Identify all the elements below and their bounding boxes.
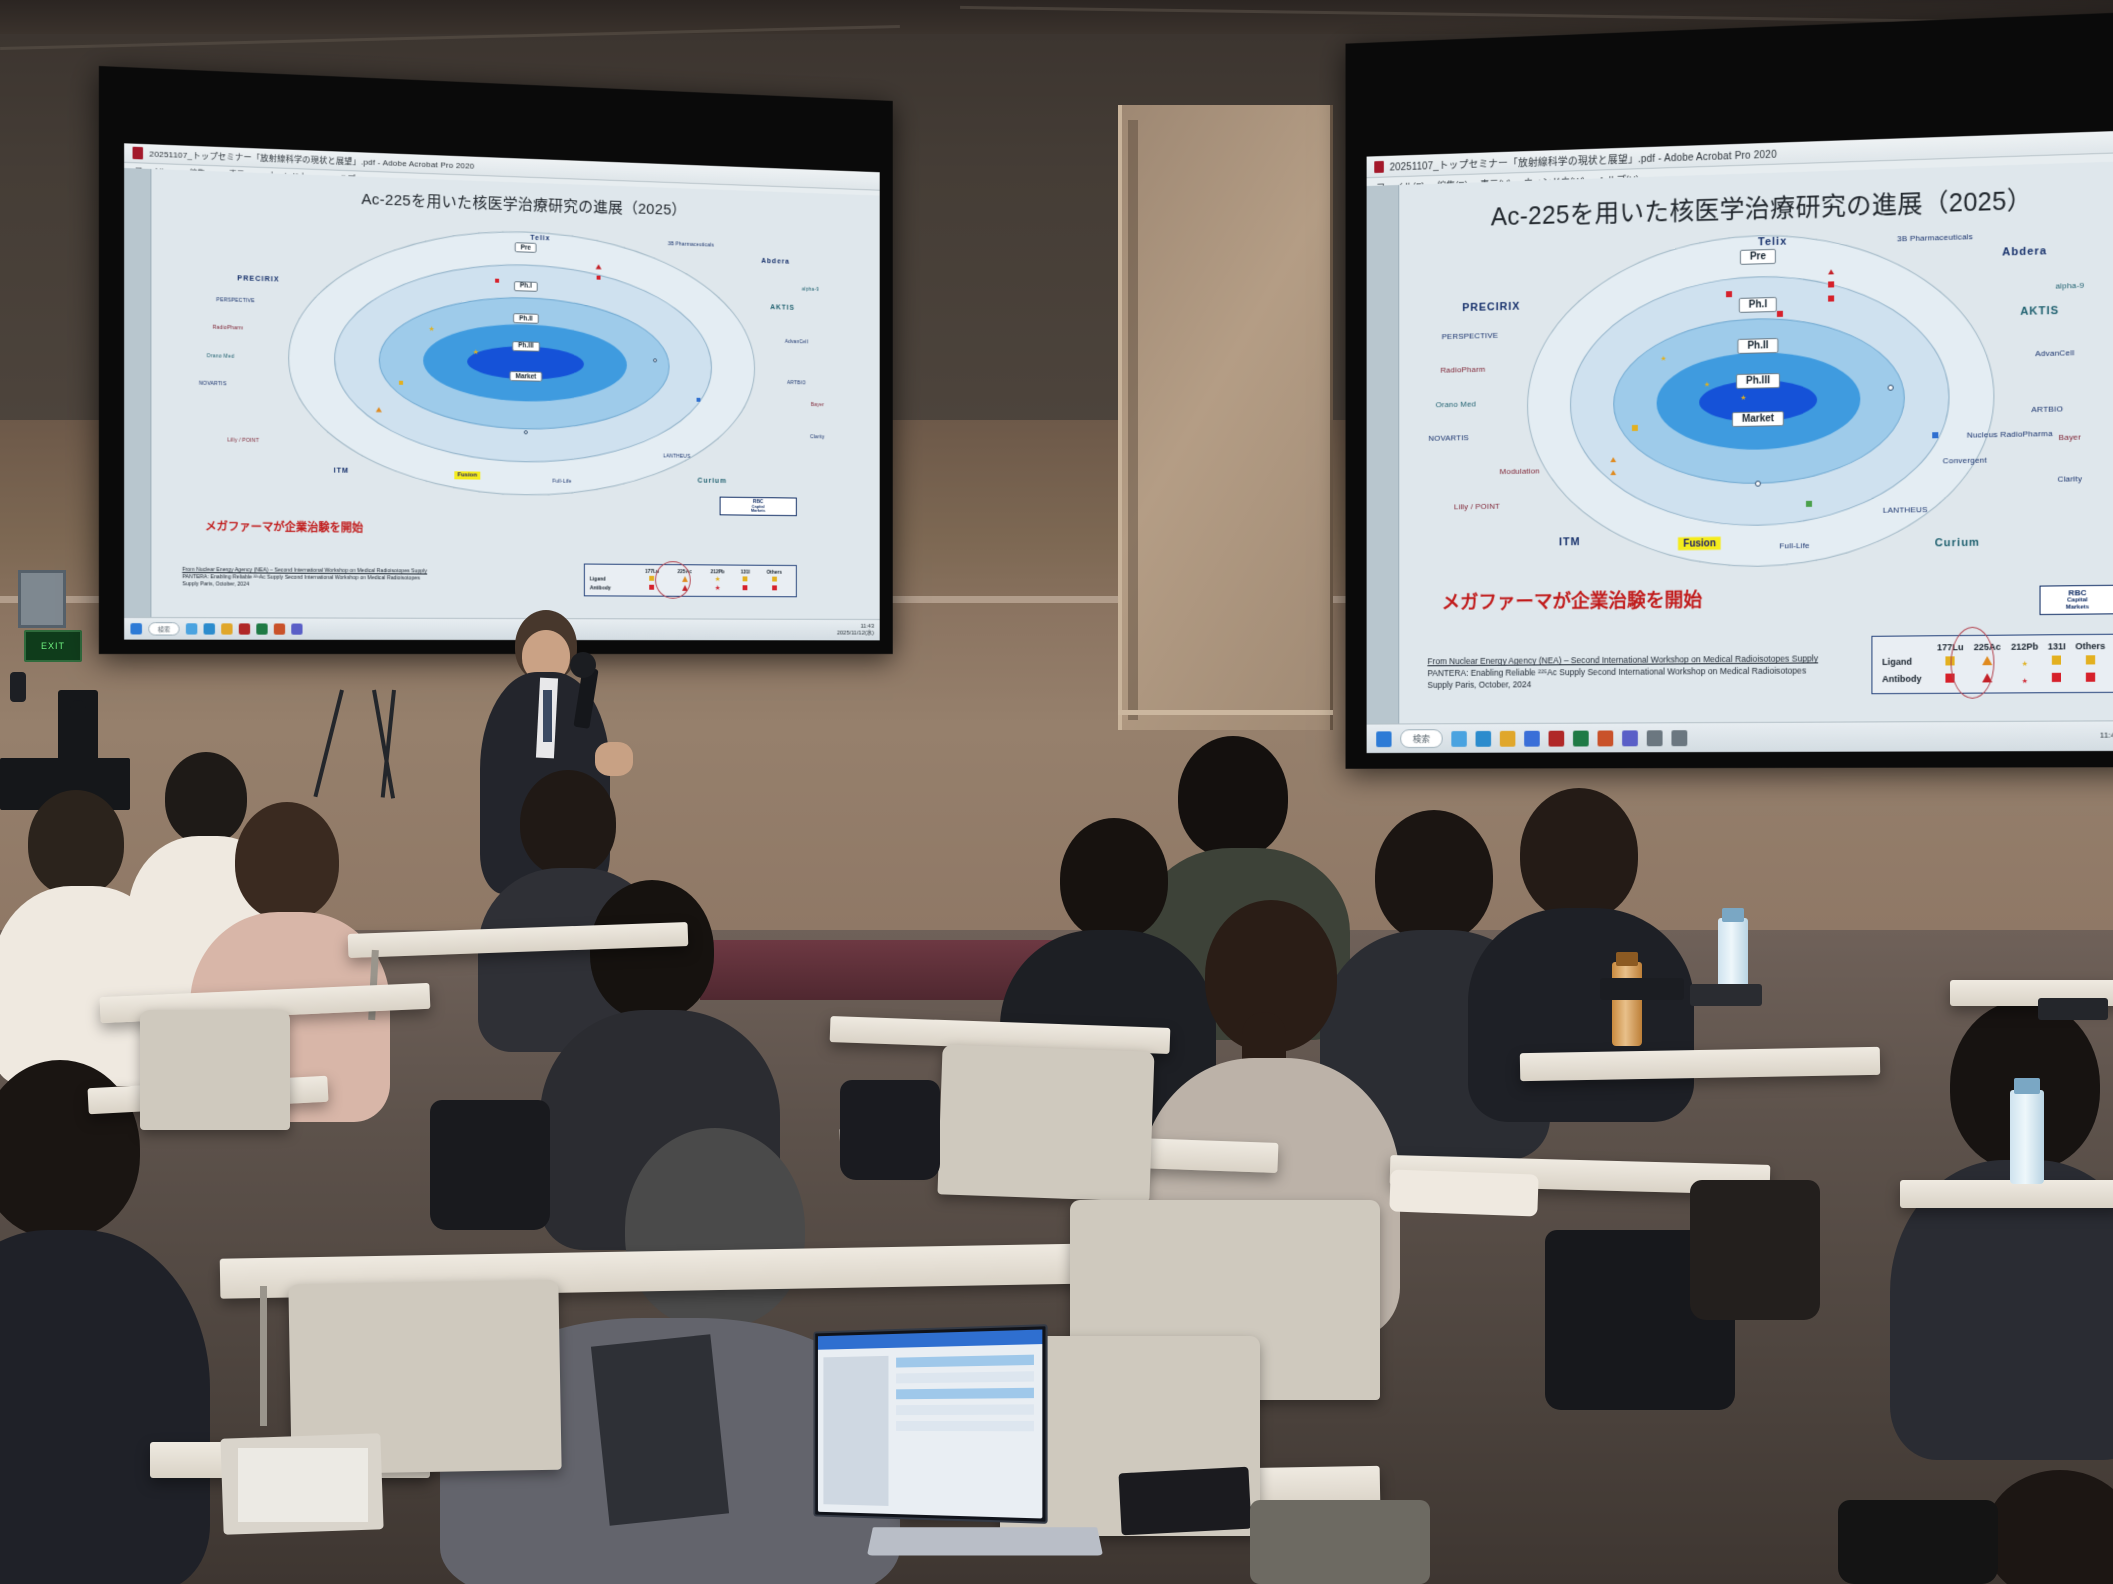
acrobat-icon[interactable]	[1549, 730, 1565, 746]
powerpoint-icon[interactable]	[274, 623, 285, 634]
company-logo-telix: Telix	[530, 234, 550, 242]
marker-square-yellow	[1632, 425, 1638, 431]
legend-row-ligand: Ligand	[1880, 652, 2111, 671]
screenshot-root: EXIT 20251107_トップセミナー「放射線科学の現状と展望」.pdf -…	[0, 0, 2113, 1584]
bag	[1838, 1500, 1998, 1584]
legend-square-yellow	[772, 577, 777, 582]
marker-square-red	[1828, 296, 1834, 302]
legend-table: 177Lu 225Ac 212Pb 131I Others Ligand	[1880, 639, 2111, 687]
company-logo-advancell: AdvanCell	[2035, 348, 2074, 358]
slide-red-callout: メガファーマが企業治験を開始	[1442, 586, 1703, 616]
company-logo-aktis: AKTIS	[770, 303, 795, 311]
water-bottle	[2010, 1090, 2044, 1184]
taskbar[interactable]: 検索 11:43 2025/11/12(水)	[124, 617, 880, 640]
company-logo-precirix: PRECIRIX	[237, 275, 279, 283]
audience-head	[520, 770, 616, 876]
bottle-cap	[1616, 952, 1638, 966]
legend-col-177lu: 177Lu	[1932, 641, 1969, 653]
marker-circle-open	[1755, 481, 1761, 487]
company-logo-aktis: AKTIS	[2020, 304, 2059, 317]
search-icon[interactable]	[130, 623, 142, 634]
wall-poster	[18, 570, 66, 628]
clock[interactable]: 11:43 2025/11/12(水)	[837, 624, 874, 637]
document-area: Ac-225を用いた核医学治療研究の進展（2025） Pre Ph.I Ph.I…	[1367, 161, 2113, 723]
pdf-document-icon	[133, 147, 143, 160]
marker-square-blue	[1932, 433, 1938, 439]
legend-col-225ac: 225Ac	[1969, 640, 2006, 652]
wall-panel-seam	[1118, 710, 1333, 715]
task-view-icon[interactable]	[1451, 731, 1466, 747]
acrobat-window-right[interactable]: 20251107_トップセミナー「放射線科学の現状と展望」.pdf - Adob…	[1367, 131, 2113, 753]
marker-square-red	[1726, 292, 1732, 298]
navigation-rail[interactable]	[124, 168, 151, 617]
audience-head	[1178, 736, 1288, 858]
projection-screen-left: 20251107_トップセミナー「放射線科学の現状と展望」.pdf - Adob…	[99, 66, 893, 654]
legend-square-red	[772, 586, 777, 591]
company-logo-precirix: PRECIRIX	[1462, 301, 1520, 314]
company-logo-radiopharm: RadioPharm	[1440, 365, 1485, 375]
bullseye-chart: Pre Ph.I Ph.II Ph.III Market Telix 3B Ph…	[1399, 217, 2113, 578]
company-logo-itm: ITM	[1559, 536, 1580, 548]
volume-icon[interactable]	[1647, 730, 1663, 746]
company-logo-3b: 3B Pharmaceuticals	[1897, 231, 1973, 242]
company-logo-clarity: Clarity	[2057, 474, 2082, 484]
bottle-cap	[2014, 1078, 2040, 1094]
legend-square-red	[650, 585, 655, 590]
company-logo-bayer: Bayer	[811, 402, 824, 408]
presenter-tie	[543, 690, 552, 742]
chair	[937, 1044, 1154, 1201]
pencil-case	[1600, 978, 1684, 1000]
legend-row-label-antibody: Antibody	[589, 584, 636, 593]
ring-label-ph1: Ph.I	[514, 281, 538, 292]
mail-icon[interactable]	[1524, 730, 1540, 746]
legend-star-red	[2021, 671, 2027, 686]
company-logo-novartis: NOVARTIS	[199, 381, 227, 388]
source-badge-rbc: RBC Capital Markets	[719, 496, 796, 516]
marker-star-yellow	[473, 349, 477, 353]
wall-device	[10, 672, 26, 702]
tea-bottle	[1612, 962, 1642, 1046]
company-logo-telix: Telix	[1758, 235, 1787, 248]
ring-label-ph1: Ph.I	[1739, 297, 1777, 313]
document-area: Ac-225を用いた核医学治療研究の進展（2025） Pre Ph.I Ph.I…	[124, 168, 880, 619]
legend-square-yellow	[743, 577, 748, 582]
laptop-screen[interactable]	[813, 1324, 1047, 1524]
search-icon[interactable]	[1376, 731, 1391, 747]
navigation-rail[interactable]	[1367, 185, 1400, 724]
company-logo-lantheus: LANTHEUS	[663, 453, 690, 459]
tablet-page	[238, 1448, 368, 1522]
excel-icon[interactable]	[1573, 730, 1589, 746]
citation-line-2: PANTERA: Enabling Reliable ²²⁵Ac Supply …	[1427, 665, 1806, 678]
legend-row-label-ligand: Ligand	[1880, 653, 1932, 671]
marker-square-blue	[696, 398, 700, 402]
company-logo-novartis: NOVARTIS	[1428, 433, 1468, 443]
legend-square-yellow	[2086, 655, 2095, 664]
legend-star-red	[714, 586, 720, 592]
company-logo-lilly-point: Lilly / POINT	[1454, 501, 1500, 511]
company-logo-convergent: Convergent	[1943, 455, 1987, 465]
legend-row-antibody: Antibody	[1880, 669, 2111, 688]
company-logo-radiopharm: RadioPharm	[213, 325, 244, 332]
microphone-head	[570, 652, 596, 678]
task-view-icon[interactable]	[186, 623, 197, 634]
company-logo-oranomed: Orano Med	[1436, 399, 1476, 409]
bottle-cap	[1722, 908, 1744, 922]
marker-circle-open	[654, 359, 658, 363]
company-logo-artbio: ARTBIO	[2031, 404, 2063, 414]
edge-icon[interactable]	[204, 623, 215, 634]
audience-head-foreground	[625, 1128, 805, 1328]
company-logo-artbio: ARTBIO	[787, 380, 806, 386]
audience-head	[1375, 810, 1493, 942]
desk	[1900, 1180, 2113, 1208]
marker-star-yellow	[1704, 382, 1710, 388]
pencil-case	[2038, 998, 2108, 1020]
acrobat-window-left[interactable]: 20251107_トップセミナー「放射線科学の現状と展望」.pdf - Adob…	[124, 143, 880, 640]
company-logo-lantheus: LANTHEUS	[1883, 504, 1928, 514]
ring-label-ph3: Ph.III	[512, 341, 539, 352]
bag	[1250, 1500, 1430, 1584]
company-logo-itm: ITM	[334, 467, 349, 474]
company-logo-perspective: PERSPECTIVE	[1442, 330, 1498, 340]
ring-label-market: Market	[1732, 411, 1784, 427]
citation-line-3: Supply Paris, October, 2024	[182, 581, 249, 587]
legend-square-yellow	[1946, 656, 1955, 665]
ring-label-ph2: Ph.II	[513, 314, 538, 325]
legend-star-yellow	[714, 577, 720, 583]
wall-panel-center	[1118, 105, 1333, 730]
company-logo-oranomed: Orano Med	[206, 353, 234, 360]
ring-label-ph2: Ph.II	[1737, 338, 1778, 354]
exit-sign: EXIT	[24, 630, 82, 662]
company-logo-nucleus: Nucleus RadioPharma	[1967, 429, 2053, 440]
bag	[1690, 1180, 1820, 1320]
ring-label-pre: Pre	[515, 242, 537, 253]
pdf-page: Ac-225を用いた核医学治療研究の進展（2025） Pre Ph.I Ph.I…	[1399, 161, 2113, 723]
presenter-hand	[595, 742, 633, 776]
audience-head	[28, 790, 124, 896]
company-logo-fulllife: Full-Life	[1779, 541, 1809, 550]
legend-square-yellow	[2052, 655, 2061, 664]
search-input[interactable]: 検索	[148, 622, 179, 635]
chart-legend: 177Lu 225Ac 212Pb 131I Others Ligand	[1872, 633, 2113, 694]
pencil-case	[1690, 984, 1762, 1006]
company-logo-curium: Curium	[1935, 537, 1980, 550]
audience-head	[590, 880, 714, 1020]
company-logo-perspective: PERSPECTIVE	[216, 297, 254, 304]
legend-row-label-ligand: Ligand	[589, 575, 636, 584]
legend-square-red	[1946, 673, 1955, 682]
powerpoint-icon[interactable]	[1598, 730, 1614, 746]
marker-square-yellow	[399, 381, 403, 385]
company-logo-curium: Curium	[698, 477, 727, 484]
audience-head	[165, 752, 247, 844]
laptop-ui	[818, 1330, 1042, 1519]
teams-icon[interactable]	[1622, 730, 1638, 746]
projection-screen-right: 20251107_トップセミナー「放射線科学の現状と展望」.pdf - Adob…	[1346, 12, 2113, 769]
legend-star-yellow	[2021, 653, 2027, 668]
marker-triangle-orange	[1610, 456, 1616, 462]
marker-square-red	[596, 276, 600, 280]
marker-star-yellow	[1660, 355, 1666, 361]
chart-legend: 177Lu 225Ac 212Pb 131I Others Ligand	[584, 564, 797, 598]
chair	[140, 1010, 290, 1130]
company-logo-alpha9: alpha-9	[2055, 281, 2084, 291]
legend-square-red	[743, 585, 748, 590]
pdf-document-icon	[1374, 160, 1384, 172]
legend-square-red	[2052, 672, 2061, 681]
phone-case	[1118, 1467, 1251, 1536]
document-paper	[1389, 1169, 1538, 1216]
company-logo-abdera: Abdera	[761, 257, 790, 265]
marker-square-red	[1777, 311, 1783, 317]
ring-label-ph3: Ph.III	[1736, 373, 1780, 389]
teams-icon[interactable]	[291, 624, 302, 635]
legend-col-others: Others	[2070, 639, 2111, 652]
marker-star-yellow	[429, 326, 433, 330]
company-logo-fulllife: Full-Life	[552, 479, 571, 485]
annotation-highlight-fusion: Fusion	[1678, 537, 1720, 551]
marker-square-red	[1828, 282, 1834, 288]
suit-lapel	[591, 1334, 729, 1526]
legend-table: 177Lu 225Ac 212Pb 131I Others Ligand	[589, 568, 792, 594]
explorer-icon[interactable]	[1500, 730, 1516, 746]
audience-head	[235, 802, 339, 920]
ring-label-market: Market	[510, 371, 543, 382]
legend-col-131i: 131I	[2043, 640, 2069, 652]
bullseye-chart: Pre Ph.I Ph.II Ph.III Market Telix 3B Ph…	[151, 214, 879, 505]
marker-triangle-red	[1828, 268, 1834, 274]
audience-head	[1060, 818, 1168, 940]
company-logo-abdera: Abdera	[2002, 245, 2047, 258]
marker-triangle-orange	[376, 407, 382, 412]
legend-triangle-orange	[1982, 656, 1992, 665]
company-logo-modulation: Modulation	[1500, 466, 1540, 476]
source-badge-rbc: RBC Capital Markets	[2040, 585, 2113, 615]
network-icon[interactable]	[1671, 730, 1687, 746]
marker-star-yellow	[1740, 395, 1746, 401]
legend-col-212pb: 212Pb	[2006, 640, 2043, 652]
excel-icon[interactable]	[256, 623, 267, 634]
legend-triangle-orange	[682, 576, 688, 582]
edge-icon[interactable]	[1476, 730, 1492, 746]
legend-triangle-red	[1982, 673, 1992, 682]
marker-circle-open	[1887, 385, 1893, 391]
company-logo-clarity: Clarity	[810, 434, 825, 440]
laptop-keyboard[interactable]	[867, 1527, 1103, 1555]
company-logo-bayer: Bayer	[2059, 432, 2082, 442]
marker-circle-open	[524, 430, 528, 434]
citation-line-2: PANTERA: Enabling Reliable ²²⁵Ac Supply …	[182, 574, 420, 581]
annotation-highlight-fusion: Fusion	[455, 471, 481, 479]
pdf-page: Ac-225を用いた核医学治療研究の進展（2025） Pre Ph.I Ph.I…	[151, 169, 879, 619]
legend-row-label-antibody: Antibody	[1880, 670, 1932, 687]
ring-label-pre: Pre	[1740, 248, 1776, 264]
acrobat-icon[interactable]	[239, 623, 250, 634]
company-logo-lilly-point: Lilly / POINT	[227, 438, 259, 445]
bag	[840, 1080, 940, 1180]
marker-square-green	[1806, 501, 1812, 507]
audience-body	[1468, 908, 1694, 1122]
company-logo-alpha9: alpha-9	[802, 286, 819, 292]
legend-triangle-red	[682, 585, 688, 591]
legend-row-antibody: Antibody	[589, 584, 792, 594]
marker-triangle-red	[595, 264, 601, 269]
slide-red-callout: メガファーマが企業治験を開始	[205, 518, 363, 536]
company-logo-advancell: AdvanCell	[785, 339, 808, 345]
search-input[interactable]: 検索	[1400, 729, 1442, 748]
taskbar[interactable]: 検索 11:43	[1367, 720, 2113, 753]
legend-square-red	[2086, 672, 2095, 681]
citation-line-3: Supply Paris, October, 2024	[1427, 679, 1531, 690]
bag	[430, 1100, 550, 1230]
desk-leg	[260, 1286, 267, 1426]
legend-square-yellow	[650, 576, 655, 581]
explorer-icon[interactable]	[221, 623, 232, 634]
clock[interactable]: 11:43	[2100, 732, 2113, 741]
wall-panel-slot	[1128, 120, 1138, 720]
marker-triangle-orange	[1610, 470, 1616, 476]
company-logo-3b: 3B Pharmaceuticals	[668, 241, 714, 248]
audience-head	[1520, 788, 1638, 920]
marker-square-red	[495, 278, 499, 282]
